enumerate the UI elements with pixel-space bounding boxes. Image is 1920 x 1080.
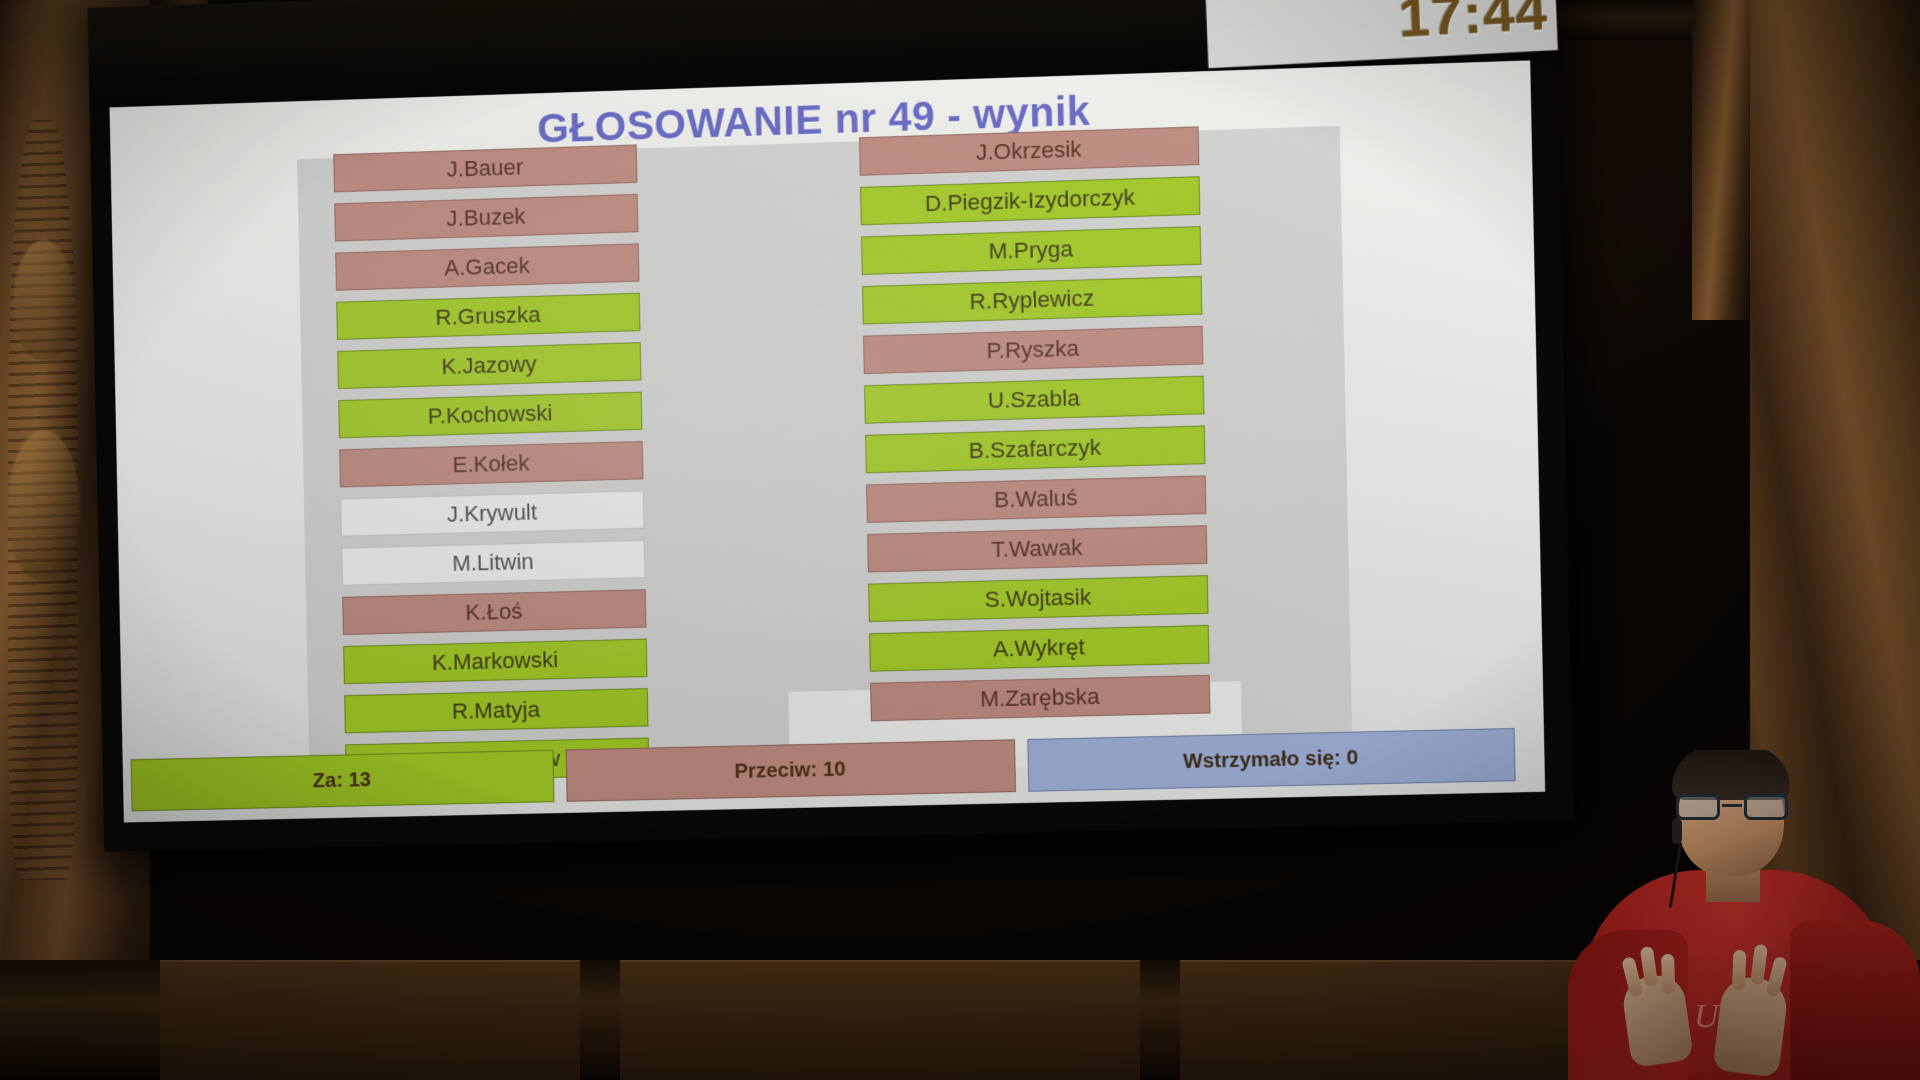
interpreter-hair	[1672, 750, 1790, 800]
councillor-name: S.Wojtasik	[984, 584, 1091, 613]
vote-row: M.Litwin	[341, 540, 645, 586]
vote-row: A.Wykręt	[869, 625, 1209, 672]
vote-row: T.Wawak	[867, 525, 1207, 572]
councillor-name: B.Waluś	[994, 485, 1078, 514]
vote-row: M.Zarębska	[870, 675, 1210, 721]
councillor-name: E.Kołek	[452, 450, 529, 478]
vote-row: R.Gruszka	[336, 293, 640, 340]
wall-ornament-left	[14, 240, 74, 360]
vote-row: D.Piegzik-Izydorczyk	[860, 176, 1200, 225]
councillor-name: K.Markowski	[432, 647, 559, 676]
councillor-name: B.Szafarczyk	[969, 434, 1102, 464]
summary-wstrzymal: Wstrzymało się: 0	[1027, 728, 1515, 792]
wall-ornament-left-lower	[8, 430, 80, 580]
vote-row: B.Szafarczyk	[865, 425, 1205, 473]
vote-column-left: J.BauerJ.BuzekA.GacekR.GruszkaK.JazowyP.…	[333, 144, 649, 793]
vote-row: K.Markowski	[343, 639, 647, 685]
councillor-name: T.Wawak	[991, 535, 1083, 564]
sign-language-interpreter: U	[1560, 750, 1920, 1080]
councillor-name: J.Bauer	[446, 154, 523, 183]
councillor-name: D.Piegzik-Izydorczyk	[925, 184, 1136, 217]
vote-row: U.Szabla	[864, 376, 1204, 424]
vote-row: B.Waluś	[866, 475, 1206, 523]
councillor-name: J.Krywult	[447, 499, 538, 528]
summary-przeciw: Przeciw: 10	[566, 739, 1016, 802]
councillor-name: A.Gacek	[444, 253, 530, 282]
councillor-name: U.Szabla	[988, 385, 1080, 414]
councillor-name: M.Litwin	[452, 549, 534, 577]
summary-za: Za: 13	[131, 750, 555, 812]
vote-row: J.Krywult	[340, 490, 644, 536]
councillor-name: K.Jazowy	[441, 351, 537, 380]
councillor-name: P.Kochowski	[427, 400, 552, 430]
councillor-name: R.Gruszka	[435, 302, 541, 331]
wood-door-panel-mid	[620, 960, 1140, 1080]
vote-row: R.Ryplewicz	[862, 276, 1202, 325]
vote-row: J.Buzek	[334, 194, 638, 242]
wood-pillar-right	[1692, 0, 1750, 320]
interpreter-earpiece	[1672, 818, 1682, 844]
vote-row: P.Ryszka	[863, 326, 1203, 374]
vote-row: M.Pryga	[861, 226, 1201, 275]
vote-row: P.Kochowski	[338, 392, 642, 439]
councillor-name: J.Buzek	[446, 203, 526, 232]
glasses-bridge	[1722, 804, 1742, 807]
clock-time: 17:44	[1397, 0, 1549, 50]
councillor-name: M.Zarębska	[980, 684, 1100, 713]
councillor-name: P.Ryszka	[986, 335, 1079, 364]
screen-surface: GŁOSOWANIE nr 49 - wynik J.BauerJ.BuzekA…	[110, 60, 1546, 822]
interpreter-shoulder-right	[1790, 920, 1920, 1080]
glasses-lens-left	[1676, 794, 1720, 820]
glasses-lens-right	[1744, 794, 1788, 820]
vote-row: K.Jazowy	[337, 342, 641, 389]
vote-row: S.Wojtasik	[868, 575, 1208, 622]
vote-row: E.Kołek	[339, 441, 643, 487]
councillor-name: K.Łoś	[465, 598, 522, 626]
vote-column-right: J.OkrzesikD.Piegzik-IzydorczykM.PrygaR.R…	[859, 127, 1180, 732]
councillor-name: R.Matyja	[452, 697, 540, 725]
vote-row: A.Gacek	[335, 243, 639, 290]
wood-door-panel-left	[160, 960, 580, 1080]
projection-screen: 17:44 GŁOSOWANIE nr 49 - wynik J.BauerJ.…	[88, 0, 1573, 852]
councillor-name: R.Ryplewicz	[969, 285, 1094, 315]
councillor-name: A.Wykręt	[993, 634, 1085, 663]
councillor-name: M.Pryga	[988, 236, 1073, 265]
voting-result-slide: GŁOSOWANIE nr 49 - wynik J.BauerJ.BuzekA…	[110, 60, 1546, 822]
vote-row: K.Łoś	[342, 589, 646, 635]
glasses-icon	[1676, 794, 1788, 820]
councillor-name: J.Okrzesik	[976, 136, 1082, 166]
vote-row: R.Matyja	[344, 688, 648, 733]
